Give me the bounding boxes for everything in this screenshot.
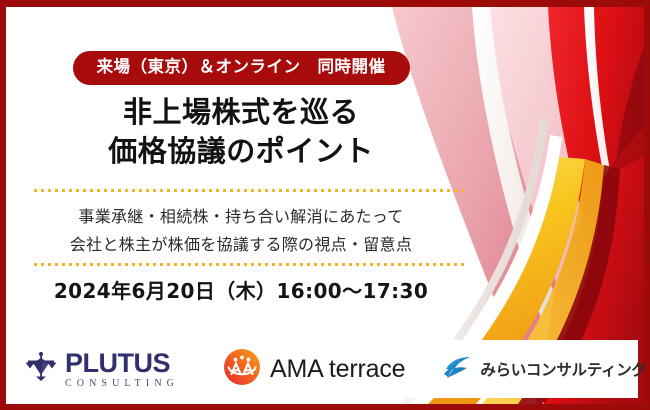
seminar-title-line-1: 非上場株式を巡る bbox=[6, 93, 476, 132]
plutus-name: PLUTUS bbox=[65, 350, 179, 377]
divider-dotted-top bbox=[34, 189, 468, 192]
plutus-wordmark: PLUTUS CONSULTING bbox=[65, 350, 179, 389]
sponsor-logo-bar: PLUTUS CONSULTING bbox=[12, 340, 638, 398]
plutus-tagline: CONSULTING bbox=[65, 379, 179, 389]
ama-terrace-wordmark: AMA terrace bbox=[270, 355, 405, 384]
logo-plutus-consulting: PLUTUS CONSULTING bbox=[24, 350, 179, 389]
event-format-badge-wrap: 来場（東京）＆オンライン 同時開催 bbox=[6, 51, 476, 85]
seminar-subtitle-line-1: 事業承継・相続株・持ち合い解消にあたって bbox=[6, 203, 476, 231]
ama-name-light: terrace bbox=[322, 355, 405, 383]
logo-ama-terrace: AMA terrace bbox=[223, 348, 405, 390]
divider-dotted-bottom bbox=[34, 263, 468, 266]
seminar-datetime: 2024年6月20日（木）16:00〜17:30 bbox=[6, 275, 476, 304]
mirai-swoosh-icon bbox=[443, 354, 473, 384]
seminar-title-line-2: 価格協議のポイント bbox=[6, 132, 476, 171]
mirai-wordmark: みらいコンサルティンググループ bbox=[480, 358, 644, 380]
seminar-banner: 来場（東京）＆オンライン 同時開催 非上場株式を巡る 価格協議のポイント 事業承… bbox=[0, 0, 650, 410]
scales-of-justice-icon bbox=[24, 351, 58, 387]
event-format-badge: 来場（東京）＆オンライン 同時開催 bbox=[73, 51, 410, 85]
logo-mirai-consulting-group: みらいコンサルティンググループ bbox=[443, 354, 644, 384]
ama-circle-icon bbox=[223, 348, 261, 390]
ama-name-bold: AMA bbox=[270, 355, 322, 383]
seminar-title: 非上場株式を巡る 価格協議のポイント bbox=[6, 93, 476, 170]
seminar-subtitle-line-2: 会社と株主が株価を協議する際の視点・留意点 bbox=[6, 231, 476, 259]
seminar-subtitle: 事業承継・相続株・持ち合い解消にあたって 会社と株主が株価を協議する際の視点・留… bbox=[6, 203, 476, 258]
banner-inner-canvas: 来場（東京）＆オンライン 同時開催 非上場株式を巡る 価格協議のポイント 事業承… bbox=[6, 7, 644, 404]
